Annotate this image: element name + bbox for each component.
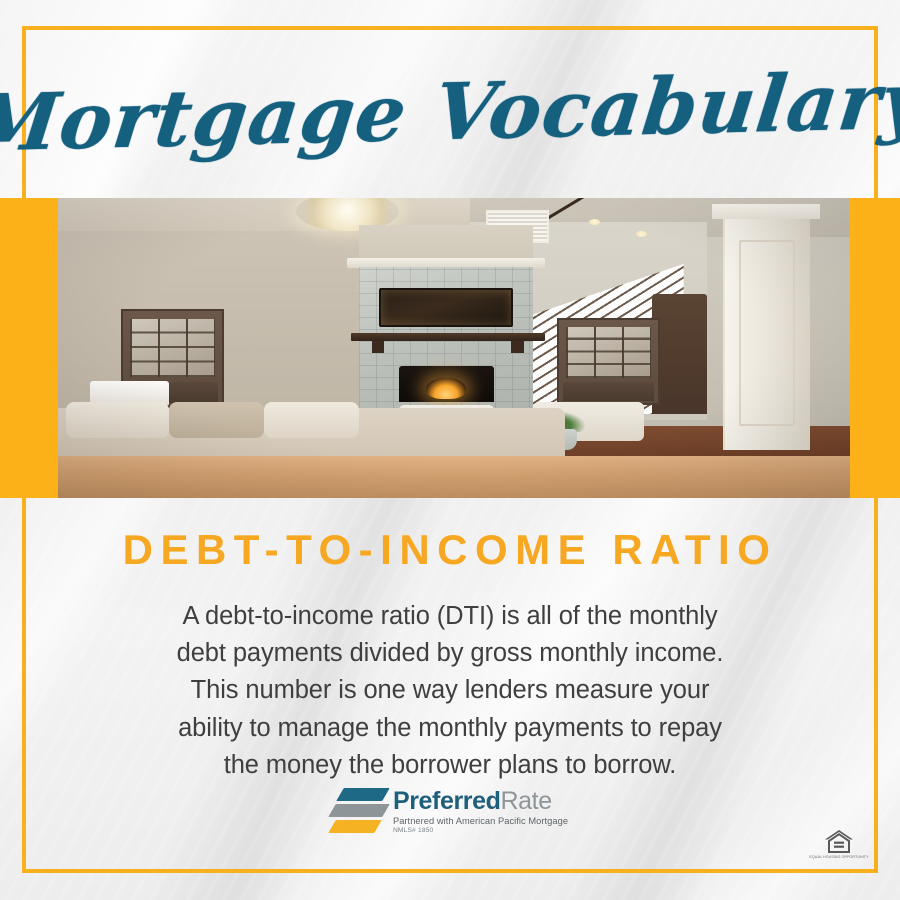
definition-line: debt payments divided by gross monthly i…: [100, 635, 800, 672]
logo-name-secondary: Rate: [501, 787, 552, 815]
equal-housing-caption: EQUAL HOUSING OPPORTUNITY: [809, 855, 868, 859]
hero-photo: [58, 198, 850, 498]
logo-nmls: NMLS# 1850: [393, 828, 568, 835]
title-block: Mortgage Vocabulary: [0, 26, 900, 198]
definition-line: This number is one way lenders measure y…: [100, 672, 800, 709]
equal-housing-opportunity-icon: EQUAL HOUSING OPPORTUNITY: [822, 828, 856, 862]
definition-line: the money the borrower plans to borrow.: [100, 747, 800, 784]
definition-line: ability to manage the monthly payments t…: [100, 710, 800, 747]
living-room-illustration: [58, 198, 850, 498]
definition-line: A debt-to-income ratio (DTI) is all of t…: [100, 598, 800, 635]
logo-wordmark: PreferredRate: [393, 789, 568, 814]
page-title: Mortgage Vocabulary: [0, 55, 900, 169]
hero-orange-band: [0, 198, 900, 498]
definition-body: A debt-to-income ratio (DTI) is all of t…: [100, 598, 800, 784]
logo-name-primary: Preferred: [393, 787, 501, 815]
preferred-rate-logo-mark-icon: [332, 788, 386, 836]
definition-section: DEBT-TO-INCOME RATIO A debt-to-income ra…: [0, 498, 900, 900]
brand-logo[interactable]: PreferredRate Partnered with American Pa…: [0, 788, 900, 836]
poster-canvas: Mortgage Vocabulary: [0, 0, 900, 900]
logo-tagline: Partnered with American Pacific Mortgage: [393, 817, 568, 826]
term-headline: DEBT-TO-INCOME RATIO: [0, 526, 900, 574]
